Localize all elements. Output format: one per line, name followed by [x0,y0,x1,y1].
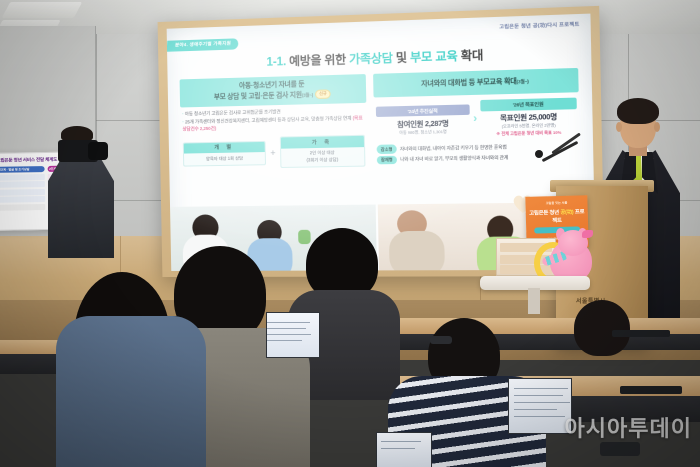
slide-title-highlight-1: 가족상담 [349,53,393,67]
right-panel-heading: 자녀와의 대화법 등 부모교육 확대(3월~) [373,68,579,98]
left-heading-period: (3월~) [302,92,313,97]
stat-value: 목표인원 25,000명 [480,112,577,125]
left-panel-bullets: · 아동 청소년기 고립은둔 검사로 고위험군를 조기발견 · 25개 가족센터… [180,107,367,134]
slide-project-tag: 고립은둔 청년 공(功)다시 프로젝트 [499,20,579,30]
stat-value: 참여인원 2,287명 [376,118,470,130]
slide-title-plain-1: 예방을 위한 [289,54,346,68]
slide-columns: 아동·청소년기 자녀를 둔 부모 상담 및 고립·은둔 검사 지원(3월~)신규… [177,68,584,170]
banner-main-text: 고립은둔 청년 공(功) 프로젝트 [529,207,585,224]
watermark: 아시아투데이 [565,411,692,443]
display-table-leg [528,288,540,314]
chevron-right-icon: › [473,113,477,125]
audience-member [560,300,656,380]
subbox-body: 양육자 대상 1회 상담 [184,152,265,162]
camera-lens-icon [88,142,108,160]
desk-item [430,336,452,344]
right-heading-text: 자녀와의 대화법 등 부모교육 확대 [421,78,517,88]
right-panel-tags: 감소형 자녀와의 대화법, 내아이 자존감 키우기 등 현명한 훈육법 잠재형 … [374,141,580,164]
slide-title: 1-1. 예방을 위한 가족상담 및 부모 교육 확대 [176,44,581,73]
plus-icon: + [270,147,276,157]
ceiling-light-icon [2,2,83,18]
tag-pill: 감소형 [376,145,396,154]
audience-member [96,276,206,467]
microphone-head-icon [535,150,543,158]
slide-title-plain-3: 확대 [461,50,484,63]
right-heading-period: (3월~) [517,78,529,84]
smartphone[interactable] [600,442,640,456]
banner-sub-text: 고립을 잇는 서울 [528,199,584,205]
bullet-item: · 25개 가족센터와 정신건강복지센터, 고립예방센터 등과 상담사 교육, … [182,116,364,134]
tag-text: 나와 내 자녀 바로 알기, 부모의 생활양식과 자녀와의 관계 [400,155,508,163]
laptop-open[interactable] [376,432,434,467]
slide-category-tag: 분야4. 생애주기별 가족지원 [167,38,239,51]
slide-right-panel: 자녀와의 대화법 등 부모교육 확대(3월~) '24년 추진실적 참여인원 2… [373,68,580,167]
slide-title-number: 1-1. [266,56,286,69]
stat-label: '26년 목표인원 [480,98,577,111]
left-panel-heading: 아동·청소년기 자녀를 둔 부모 상담 및 고립·은둔 검사 지원(3월~)신규 [180,74,367,107]
left-heading-line2: 부모 상담 및 고립·은둔 검사 지원 [214,91,302,100]
poster-column-1: 1단계 · 발굴 및 초기상담 [0,166,45,211]
poster-column-header: 1단계 · 발굴 및 초기상담 [0,166,44,173]
stat-2024: '24년 추진실적 참여인원 2,287명 아동 986명, 청소년 1,301… [376,104,471,136]
desk-cable-tray [612,330,670,337]
subbox-individual: 개 별 양육자 대상 1회 상담 [183,140,267,166]
slide-left-panel: 아동·청소년기 자녀를 둔 부모 상담 및 고립·은둔 검사 지원(3월~)신규… [180,74,368,170]
stat-label: '24년 추진실적 [376,104,470,117]
tag-pill: 잠재형 [377,155,397,164]
slide-title-plain-2: 및 [396,52,407,65]
stat-sub2: ※ 전체 고립은둔 청년 대비 목표 10% [481,130,578,138]
left-panel-subboxes: 개 별 양육자 대상 1회 상담 + 가 족 2인 이상 대상 (3회기 이상 … [181,135,368,170]
press-briefing-photo: 분야4. 생애주기별 가족지원 고립은둔 청년 공(功)다시 프로젝트 1-1.… [0,0,700,467]
mascot-bow-icon [582,230,593,238]
subbox-family: 가 족 2인 이상 대상 (3회기 이상 상담) [279,135,365,168]
stat-sub: 아동 986명, 청소년 1,301명 [376,129,470,136]
tag-text: 자녀와의 대화법, 내아이 자존감 키우기 등 현명한 훈육법 [400,144,507,152]
stat-2026: '26년 목표인원 목표인원 25,000명 (오프라인 5천명, 온라인 2만… [480,98,577,138]
laptop-open[interactable] [262,312,322,364]
slide-title-highlight-2: 부모 교육 [410,51,458,65]
new-badge: 신규 [315,89,331,99]
desk-cable-tray [620,386,682,394]
bullet-text: 아동 청소년기 고립은둔 검사로 고위험군를 조기발견 [185,109,281,116]
right-panel-stats: '24년 추진실적 참여인원 2,287명 아동 986명, 청소년 1,301… [374,98,580,140]
subbox-body: 2인 이상 대상 (3회기 이상 상담) [281,147,365,164]
speaker-hair [617,98,659,124]
